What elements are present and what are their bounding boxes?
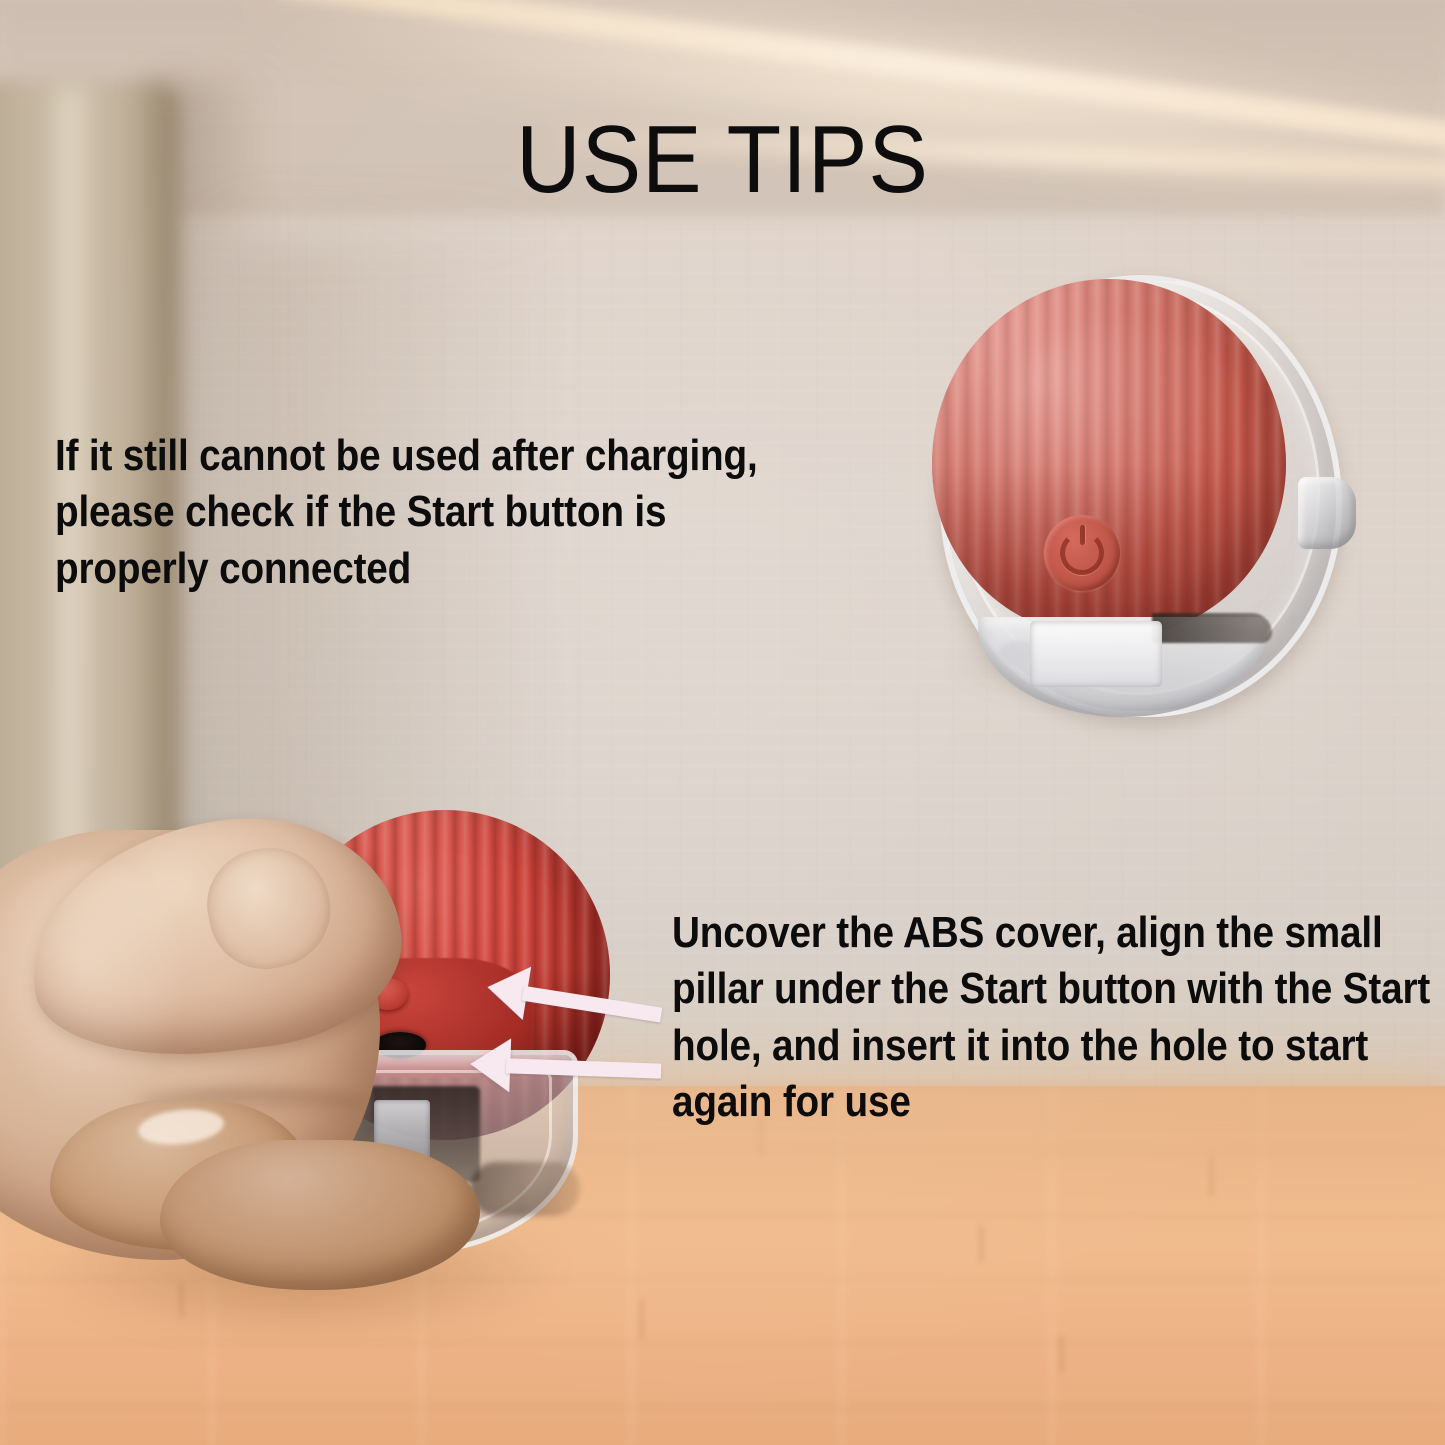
- arrow-shaft: [506, 1058, 661, 1078]
- clear-dome-nub: [1298, 477, 1356, 549]
- internal-dark-component: [1152, 613, 1272, 643]
- page-title: USE TIPS: [51, 112, 1395, 208]
- base-window: [1030, 621, 1162, 687]
- arrow-head-icon: [469, 1037, 511, 1092]
- callout-arrow-start-hole: [469, 1041, 661, 1108]
- red-silicone-ball: [932, 279, 1286, 635]
- hand-middle-finger: [160, 1140, 480, 1290]
- power-button[interactable]: [1044, 515, 1120, 591]
- infographic-canvas: USE TIPS: [0, 0, 1445, 1445]
- hand: [0, 770, 510, 1370]
- tip-text-abs-cover: Uncover the ABS cover, align the small p…: [672, 905, 1445, 1130]
- arrow-shaft: [522, 986, 663, 1023]
- product-photo-assembled: [920, 265, 1350, 735]
- power-icon: [1060, 531, 1104, 575]
- tip-text-charging: If it still cannot be used after chargin…: [55, 428, 794, 597]
